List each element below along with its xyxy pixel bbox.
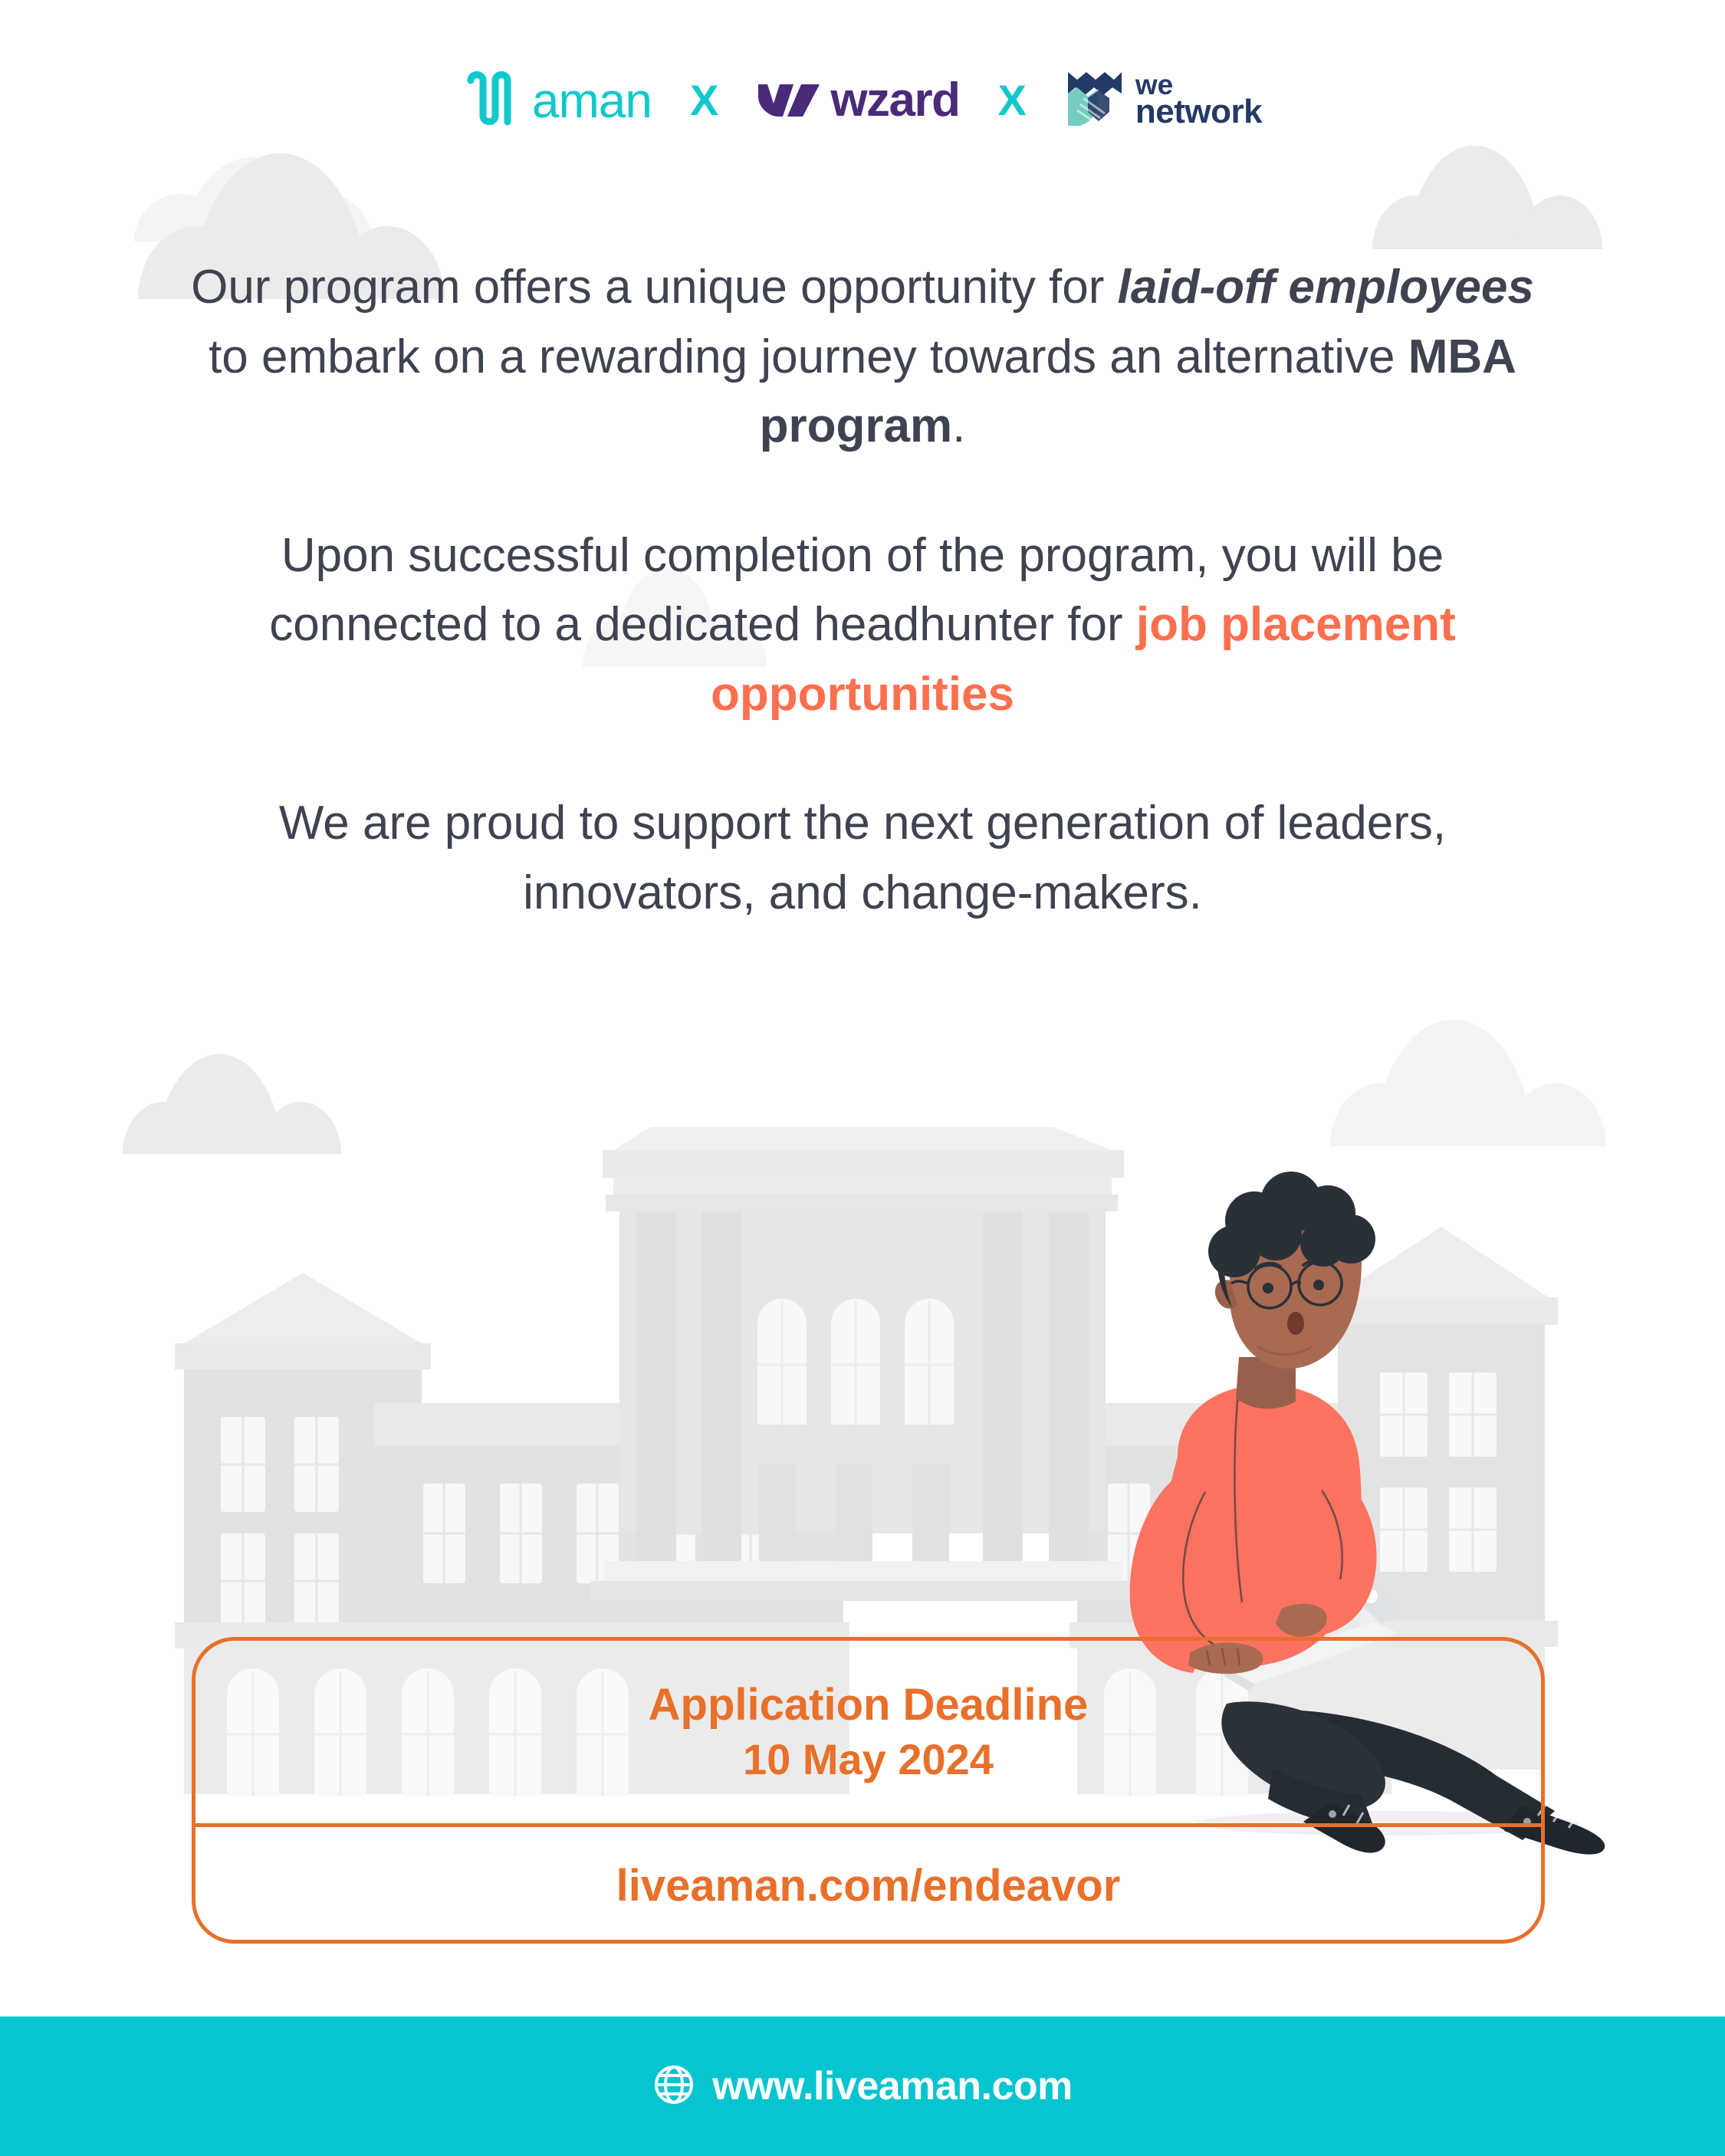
aman-wave-mark-icon [463,68,521,132]
deadline-card-top: Application Deadline 10 May 2024 [195,1641,1541,1827]
deadline-title: Application Deadline [649,1678,1089,1734]
footer-bar: www.liveaman.com [0,2016,1725,2156]
globe-icon [652,2063,695,2110]
body-copy: Our program offers a unique opportunity … [188,253,1537,928]
deadline-card: Application Deadline 10 May 2024 liveama… [192,1637,1545,1944]
application-url-link[interactable]: liveaman.com/endeavor [616,1860,1121,1911]
paragraph-3: We are proud to support the next generat… [188,789,1537,928]
p1-part3: to embark on a rewarding journey towards… [209,330,1408,383]
p1-laid-off-employees: laid-off employees [1118,261,1534,314]
logo-separator-x-1: X [685,79,723,122]
logo-we-network[interactable]: we network [1065,67,1262,133]
wzard-wordmark: wzard [830,77,959,124]
logo-separator-x-2: X [994,79,1031,122]
p3-part1: We are proud to support the next generat… [279,797,1446,919]
we-network-handshake-shield-icon [1065,67,1125,133]
footer-website[interactable]: www.liveaman.com [712,2063,1073,2109]
p1-part5: . [952,399,965,452]
we-network-line2: network [1135,97,1262,127]
paragraph-1: Our program offers a unique opportunity … [188,253,1537,462]
deadline-date: 10 May 2024 [743,1733,994,1786]
aman-wordmark: aman [532,76,652,125]
deadline-card-bottom[interactable]: liveaman.com/endeavor [195,1827,1541,1944]
paragraph-2: Upon successful completion of the progra… [188,521,1537,730]
poster-canvas: aman X wzard X we [0,0,1725,2156]
logo-aman[interactable]: aman [463,68,652,132]
p1-part1: Our program offers a unique opportunity … [191,261,1118,314]
logo-wzard[interactable]: wzard [757,77,959,124]
wzard-check-mark-icon [757,77,821,123]
partner-logo-row: aman X wzard X we [0,67,1725,133]
cloud-top-right [1372,146,1602,249]
we-network-wordmark: we network [1135,73,1262,127]
